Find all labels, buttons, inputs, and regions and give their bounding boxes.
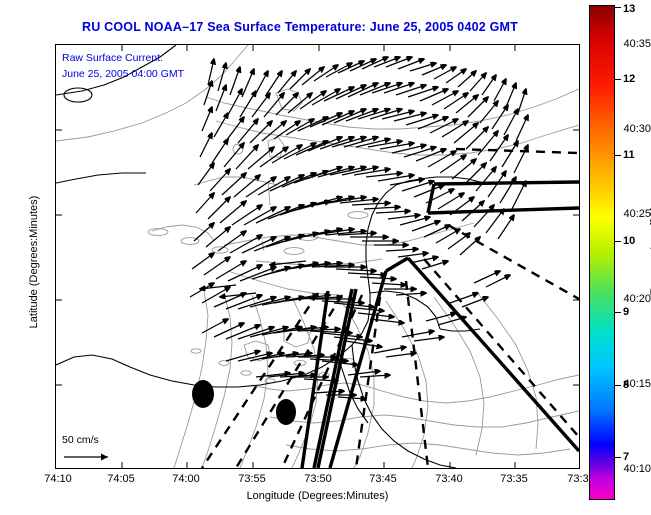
colorbar-tick-label: 10 bbox=[623, 235, 635, 247]
xtick-label: 73:35 bbox=[500, 473, 528, 485]
sst-figure: RU COOL NOAA–17 Sea Surface Temperature:… bbox=[0, 0, 651, 515]
xtick-label: 74:10 bbox=[44, 473, 72, 485]
xtick-label: 73:40 bbox=[435, 473, 463, 485]
xtick-label: 73:3 bbox=[567, 473, 588, 485]
colorbar-tick-label: 8 bbox=[623, 379, 629, 391]
colorbar-tick-label: 9 bbox=[623, 306, 629, 318]
colorbar-tick-label: 12 bbox=[623, 73, 635, 85]
map-plot-area[interactable] bbox=[55, 44, 580, 469]
colorbar[interactable] bbox=[589, 5, 615, 500]
xtick-label: 73:45 bbox=[369, 473, 397, 485]
colorbar-tick-label: 7 bbox=[623, 451, 629, 463]
axis-ticks bbox=[56, 45, 579, 468]
scalebar-label: 50 cm/s bbox=[62, 434, 99, 446]
colorbar-tick bbox=[615, 385, 621, 386]
annotation-line-2: June 25, 2005 04:00 GMT bbox=[62, 68, 184, 80]
xtick-label: 74:00 bbox=[172, 473, 200, 485]
annotation-line-1: Raw Surface Current: bbox=[62, 52, 163, 64]
map-canvas bbox=[56, 45, 579, 468]
colorbar-tick-label: 13 bbox=[623, 3, 635, 15]
scalebar-arrow-icon bbox=[64, 454, 108, 461]
bathymetry-contours bbox=[56, 45, 579, 468]
colorbar-tick bbox=[615, 155, 621, 156]
radar-station-marker bbox=[192, 380, 214, 408]
y-axis-label: Latitude (Degrees:Minutes) bbox=[28, 152, 40, 372]
colorbar-tick-label: 11 bbox=[623, 149, 635, 161]
xtick-label: 73:50 bbox=[304, 473, 332, 485]
xtick-label: 73:55 bbox=[238, 473, 266, 485]
colorbar-tick bbox=[615, 241, 621, 242]
colorbar-tick bbox=[615, 79, 621, 80]
radar-station-marker bbox=[276, 399, 296, 425]
page-title: RU COOL NOAA–17 Sea Surface Temperature:… bbox=[0, 20, 600, 34]
colorbar-tick bbox=[615, 312, 621, 313]
surface-current-vectors bbox=[190, 57, 528, 399]
colorbar-tick bbox=[615, 7, 621, 8]
coastline bbox=[56, 45, 484, 468]
colorbar-tick bbox=[615, 457, 621, 458]
xtick-label: 74:05 bbox=[107, 473, 135, 485]
x-axis-label: Longitude (Degrees:Minutes) bbox=[55, 490, 580, 502]
